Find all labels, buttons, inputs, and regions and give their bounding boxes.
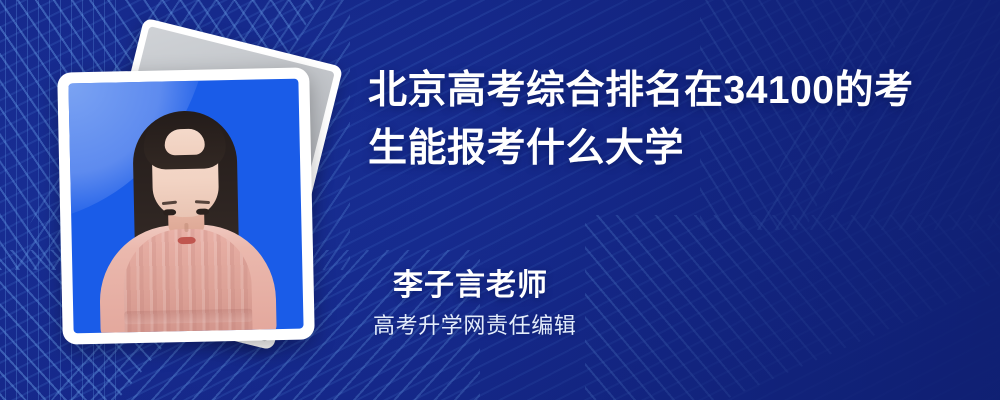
author-role: 高考升学网责任编辑 <box>373 310 788 342</box>
portrait-eyebrow-left <box>162 201 177 206</box>
article-banner: 北京高考综合排名在34100的考生能报考什么大学 李子言老师 高考升学网责任编辑 <box>0 0 1000 400</box>
portrait-nose <box>184 223 188 232</box>
photo-card-front <box>57 67 315 344</box>
portrait-figure <box>68 79 303 334</box>
page-title: 北京高考综合排名在34100的考生能报考什么大学 <box>368 62 948 178</box>
photo-stack-icon <box>48 30 358 370</box>
author-portrait-photo <box>68 79 303 334</box>
portrait-mouth <box>178 237 196 244</box>
portrait-eyebrow-right <box>195 200 210 204</box>
portrait-eye-right <box>196 209 209 215</box>
banner-content: 北京高考综合排名在34100的考生能报考什么大学 李子言老师 高考升学网责任编辑 <box>368 0 968 400</box>
author-name: 李子言老师 <box>393 266 788 306</box>
byline: 李子言老师 高考升学网责任编辑 <box>368 266 788 342</box>
portrait-hair-front <box>143 112 226 170</box>
portrait-eye-left <box>163 209 176 215</box>
